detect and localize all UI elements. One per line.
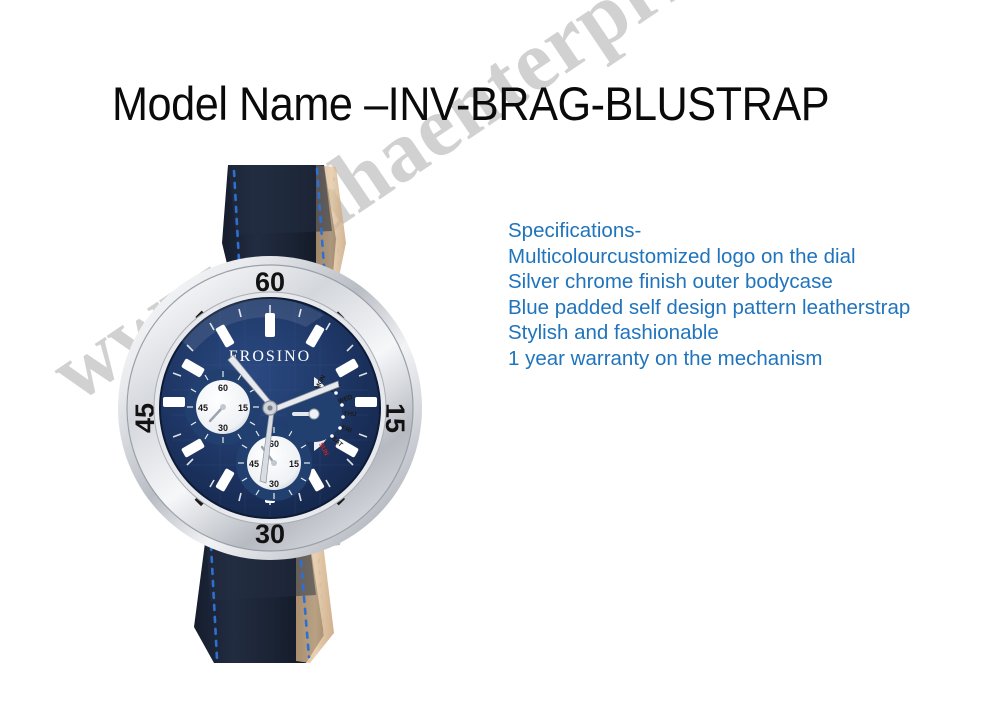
spec-line-heading: Specifications- [508,218,910,244]
product-slide: www.chahaenterprises.net [0,0,1000,725]
product-image: 60 15 30 45 [110,165,430,665]
specifications-block: Specifications- Multicolourcustomized lo… [508,218,910,371]
spec-line-dial-logo: Multicolourcustomized logo on the dial [508,244,910,270]
spec-line-strap: Blue padded self design pattern leathers… [508,295,910,321]
page-title: Model Name –INV-BRAG-BLUSTRAP [112,76,829,131]
spec-line-style: Stylish and fashionable [508,320,910,346]
subdial-left-30: 30 [218,423,228,433]
subdial-bottom-45: 45 [249,459,259,469]
spec-line-warranty: 1 year warranty on the mechanism [508,346,910,372]
subdial-left-45: 45 [198,403,208,413]
subdial-left-15: 15 [238,403,248,413]
spec-line-bodycase: Silver chrome finish outer bodycase [508,269,910,295]
watch-illustration: 60 15 30 45 [110,165,430,665]
subdial-bottom-15: 15 [289,459,299,469]
subdial-bottom-30: 30 [269,479,279,489]
subdial-left-60: 60 [218,383,228,393]
dial-brand-label: FROSINO [229,348,311,365]
day-label-thu: THU [343,411,357,418]
